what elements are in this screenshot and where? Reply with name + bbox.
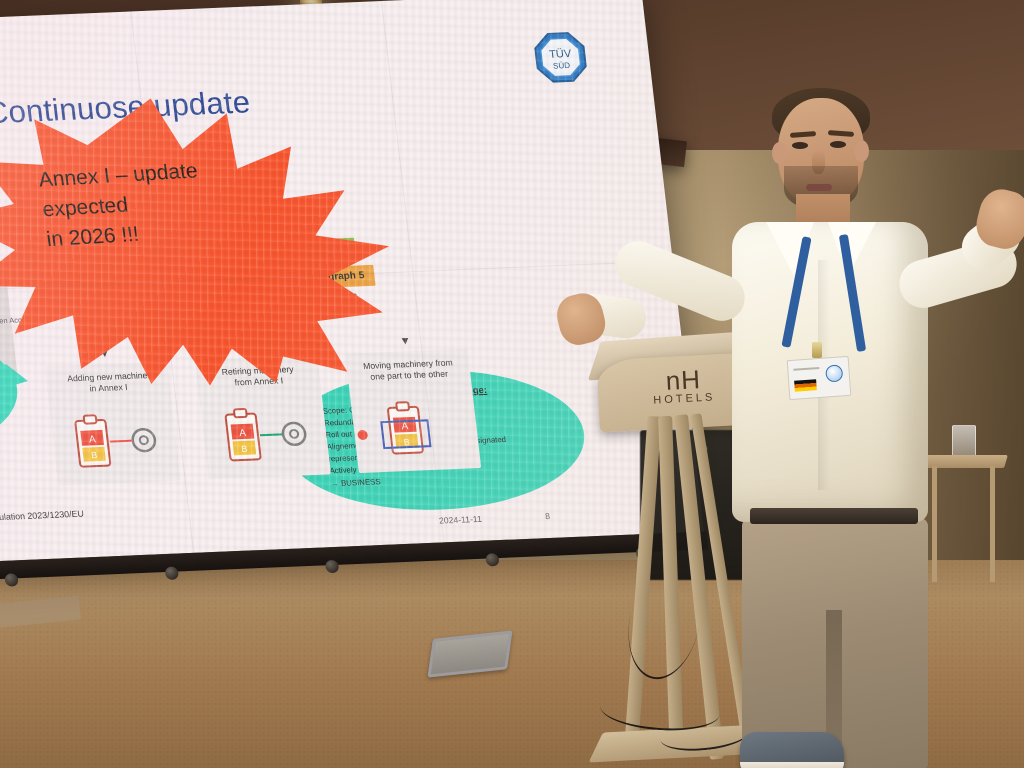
belt <box>750 508 918 524</box>
svg-text:B: B <box>403 437 410 447</box>
svg-text:B: B <box>241 444 248 454</box>
badge-seal-icon <box>825 364 843 382</box>
tuv-logo-text-top: TÜV <box>549 48 573 61</box>
lanyard-clip <box>812 342 822 358</box>
down-arrow-icon: ▼ <box>399 335 411 347</box>
mouth <box>806 184 832 191</box>
slide-date: 2024-11-11 <box>438 514 482 526</box>
starburst-text: Annex I – update expected in 2026 !!! <box>37 148 349 255</box>
shoe-sole <box>740 762 844 768</box>
name-badge <box>787 356 852 400</box>
clipboard-gear-icon: A B <box>200 403 329 470</box>
shoe-left <box>740 732 844 768</box>
slide-page-number: 8 <box>545 511 551 521</box>
conference-room-scene: TÜV SÜD Annex I - Continuose update Memb… <box>0 0 1024 768</box>
german-flag-icon <box>794 379 817 392</box>
clipboard-gear-icon: A B <box>50 409 179 476</box>
slide-footer-title: Changes of New Machine Regulation 2023/1… <box>0 509 84 527</box>
speaker-person <box>560 70 1024 768</box>
ear-right <box>854 140 869 162</box>
eye-right <box>830 141 846 148</box>
eye-left <box>792 142 808 149</box>
clipboard-move-icon: A B <box>351 396 480 463</box>
ear-left <box>772 142 787 164</box>
svg-text:B: B <box>91 450 98 460</box>
badge-text-line <box>793 367 819 371</box>
